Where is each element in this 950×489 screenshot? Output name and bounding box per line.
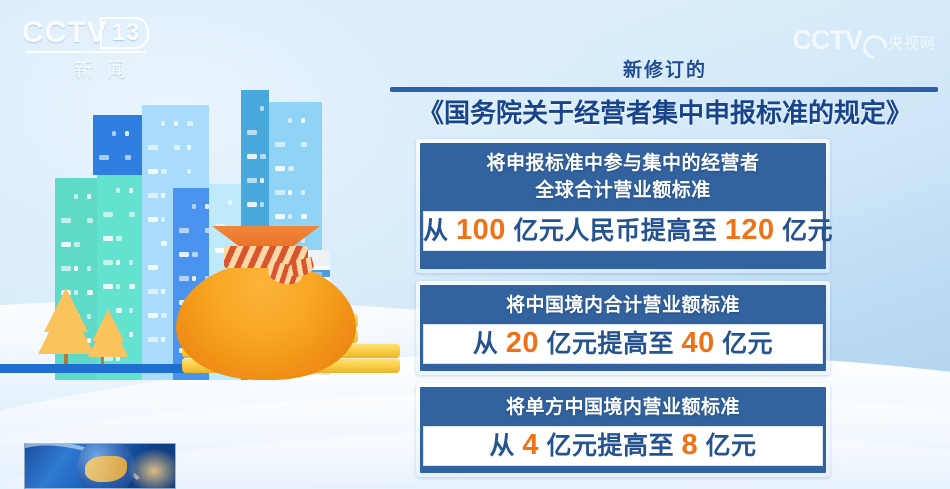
standard-item: 将中国境内合计营业额标准从 20 亿元提高至 40 亿元 xyxy=(416,281,830,375)
building-window xyxy=(161,121,165,126)
building-window xyxy=(301,190,305,195)
building-window xyxy=(116,284,120,289)
standard-item-heading-line2: 全球合计营业额标准 xyxy=(430,177,816,204)
building-window xyxy=(161,337,165,342)
building-window xyxy=(112,131,116,136)
building-window xyxy=(103,236,113,241)
watermark-text: CCTV xyxy=(792,25,862,56)
building-window xyxy=(161,241,167,246)
coin xyxy=(352,358,400,373)
building-window xyxy=(129,308,133,313)
building-window xyxy=(301,142,307,147)
video-thumbnail[interactable] xyxy=(24,443,176,489)
building-window xyxy=(129,284,135,289)
standard-item-value: 从 100 亿元人民币提高至 120 亿元 xyxy=(423,211,823,251)
building-window xyxy=(148,289,158,294)
building-window xyxy=(61,242,71,247)
building-window xyxy=(148,169,158,174)
cctv-com-watermark: CCTV 央视网 xyxy=(792,8,936,56)
building-window xyxy=(247,154,257,159)
headline-block: 新修订的 《国务院关于经营者集中申报标准的规定》 xyxy=(390,58,940,130)
building-window xyxy=(192,204,196,209)
building-window xyxy=(129,332,133,337)
building-window xyxy=(148,313,158,318)
building-window xyxy=(288,118,292,123)
building-window xyxy=(116,236,122,241)
building-window xyxy=(148,337,158,342)
cctv-wordmark: CCTV13 xyxy=(22,16,182,50)
building-window xyxy=(99,155,109,160)
standard-item-heading-line1: 将单方中国境内营业额标准 xyxy=(430,394,816,421)
standard-item-value-suffix: 亿元 xyxy=(722,330,773,358)
building-window xyxy=(288,166,294,171)
building-window xyxy=(161,289,165,294)
tree-foliage-upper xyxy=(44,288,88,332)
standard-item-value-prefix: 从 xyxy=(489,432,515,460)
building-window xyxy=(174,121,178,126)
building-window xyxy=(125,131,129,136)
building-window xyxy=(125,155,131,160)
building-window xyxy=(187,145,191,150)
standard-item: 将单方中国境内营业额标准从 4 亿元提高至 8 亿元 xyxy=(416,383,830,477)
building-window xyxy=(260,202,264,207)
headline-divider xyxy=(390,87,938,92)
building-window xyxy=(116,188,120,193)
building-window xyxy=(161,169,167,174)
standard-item-panel: 将单方中国境内营业额标准从 4 亿元提高至 8 亿元 xyxy=(420,387,826,473)
building-window xyxy=(187,121,193,126)
building-window xyxy=(228,200,232,205)
standard-item-value-to: 120 xyxy=(725,214,775,246)
standard-item-value-from: 20 xyxy=(506,327,539,359)
thumbnail-glow xyxy=(127,448,176,489)
building-window xyxy=(74,242,80,247)
building-window xyxy=(61,218,71,223)
building-window xyxy=(275,214,285,219)
tree-icon xyxy=(88,326,117,364)
standard-item-value-from: 4 xyxy=(522,429,539,461)
standard-item-value-from: 100 xyxy=(456,214,506,246)
standard-item-value-middle: 亿元提高至 xyxy=(546,330,674,358)
building-window xyxy=(161,313,167,318)
building-window xyxy=(288,190,292,195)
building-window xyxy=(116,260,120,265)
standard-item-value-middle: 亿元人民币提高至 xyxy=(513,217,717,245)
standard-item-heading: 将申报标准中参与集中的经营者全球合计营业额标准 xyxy=(420,149,826,211)
building-window xyxy=(87,218,93,223)
building-window xyxy=(87,194,91,199)
standard-item-value: 从 20 亿元提高至 40 亿元 xyxy=(423,324,823,364)
standard-item-value-suffix: 亿元 xyxy=(706,432,757,460)
building-window xyxy=(247,178,257,183)
watermark-chinese-text: 央视网 xyxy=(888,32,936,53)
building-window xyxy=(129,212,135,217)
standard-item-heading: 将单方中国境内营业额标准 xyxy=(420,393,826,426)
building-window xyxy=(174,145,180,150)
broadcast-graphic-frame: CCTV13 新闻 CCTV 央视网 新修订的 《国务院关于经营者集中申报标准的… xyxy=(0,0,950,489)
standard-item-value-suffix: 亿元 xyxy=(782,217,833,245)
building-window xyxy=(301,118,305,123)
building xyxy=(93,115,142,175)
building-window xyxy=(301,214,307,219)
standard-item: 将申报标准中参与集中的经营者全球合计营业额标准从 100 亿元人民币提高至 12… xyxy=(416,139,830,273)
building-window xyxy=(161,217,165,222)
building-window xyxy=(103,212,113,217)
headline-kicker: 新修订的 xyxy=(390,58,940,84)
building-window xyxy=(275,142,285,147)
building-window xyxy=(260,178,264,183)
cctv-logo-underline xyxy=(26,51,146,53)
building-window xyxy=(288,214,292,219)
building-window xyxy=(161,193,165,198)
building-window xyxy=(247,202,257,207)
building-window xyxy=(74,194,78,199)
building-window xyxy=(148,217,158,222)
building-window xyxy=(103,284,113,289)
building-window xyxy=(247,130,257,135)
building-window xyxy=(148,265,158,270)
tree-icon xyxy=(38,290,94,364)
building-window xyxy=(148,145,158,150)
building-window xyxy=(187,169,191,174)
tree-foliage-upper xyxy=(92,309,124,341)
standards-list: 将申报标准中参与集中的经营者全球合计营业额标准从 100 亿元人民币提高至 12… xyxy=(416,139,830,485)
money-bag-icon xyxy=(176,232,356,380)
building-window xyxy=(74,266,78,271)
coin xyxy=(352,343,400,358)
building-window xyxy=(129,260,133,265)
cctv-logo-subtitle: 新闻 xyxy=(32,55,182,82)
standard-item-heading-line1: 将申报标准中参与集中的经营者 xyxy=(430,150,816,177)
standard-item-value-prefix: 从 xyxy=(473,330,499,358)
building-window xyxy=(148,193,158,198)
standard-item-value-prefix: 从 xyxy=(423,217,449,245)
building-window xyxy=(260,106,264,111)
standard-item-value-to: 40 xyxy=(681,327,714,359)
page-title: 《国务院关于经营者集中申报标准的规定》 xyxy=(390,96,940,130)
building-window xyxy=(260,154,266,159)
standard-item-heading-line1: 将中国境内合计营业额标准 xyxy=(430,292,816,319)
building-window xyxy=(275,190,285,195)
cctv-logo-number: 13 xyxy=(100,17,150,49)
building-window xyxy=(275,166,285,171)
cctv-logo-text: CCTV xyxy=(22,16,108,49)
standard-item-panel: 将申报标准中参与集中的经营者全球合计营业额标准从 100 亿元人民币提高至 12… xyxy=(420,143,826,269)
money-bag-body xyxy=(176,262,356,380)
building-window xyxy=(61,266,71,271)
standard-item-value-to: 8 xyxy=(681,429,698,461)
standard-item-panel: 将中国境内合计营业额标准从 20 亿元提高至 40 亿元 xyxy=(420,285,826,371)
standard-item-value-middle: 亿元提高至 xyxy=(546,432,674,460)
building-window xyxy=(87,266,91,271)
cctv13-logo: CCTV13 新闻 xyxy=(22,16,182,74)
building-window xyxy=(103,260,113,265)
standard-item-value: 从 4 亿元提高至 8 亿元 xyxy=(423,426,823,466)
building-window xyxy=(129,188,133,193)
standard-item-heading: 将中国境内合计营业额标准 xyxy=(420,291,826,324)
standard-item-panel-footer xyxy=(420,251,826,262)
coin-stack xyxy=(352,343,400,373)
